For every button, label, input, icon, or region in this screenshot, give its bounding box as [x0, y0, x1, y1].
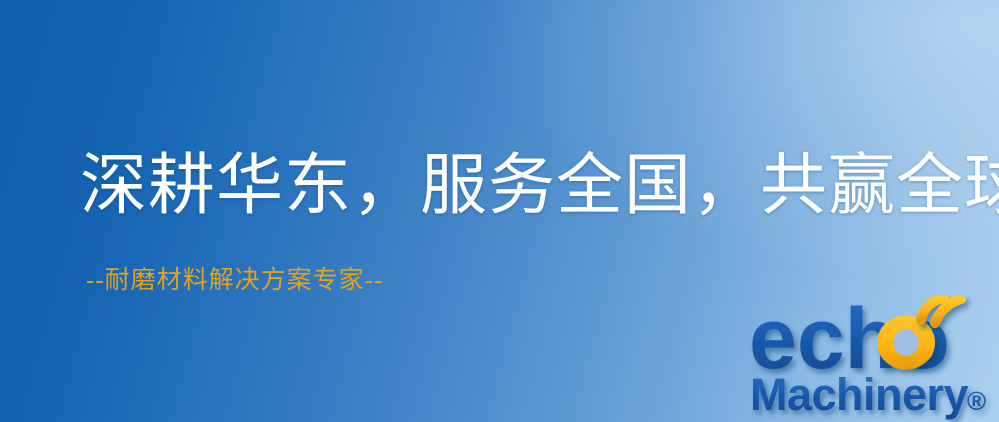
logo-trademark-symbol: ®: [967, 386, 986, 416]
page-subtitle: --耐磨材料解决方案专家--: [86, 264, 383, 298]
logo-graphic: echo Machinery ®: [745, 296, 999, 422]
hero-banner: 深耕华东，服务全国，共赢全球 --耐磨材料解决方案专家--: [0, 0, 999, 422]
page-title: 深耕华东，服务全国，共赢全球: [80, 146, 999, 226]
company-logo[interactable]: echo Machinery ®: [745, 296, 999, 422]
logo-tagline-machinery: Machinery: [750, 369, 969, 420]
letter-o-gold: [877, 316, 935, 370]
